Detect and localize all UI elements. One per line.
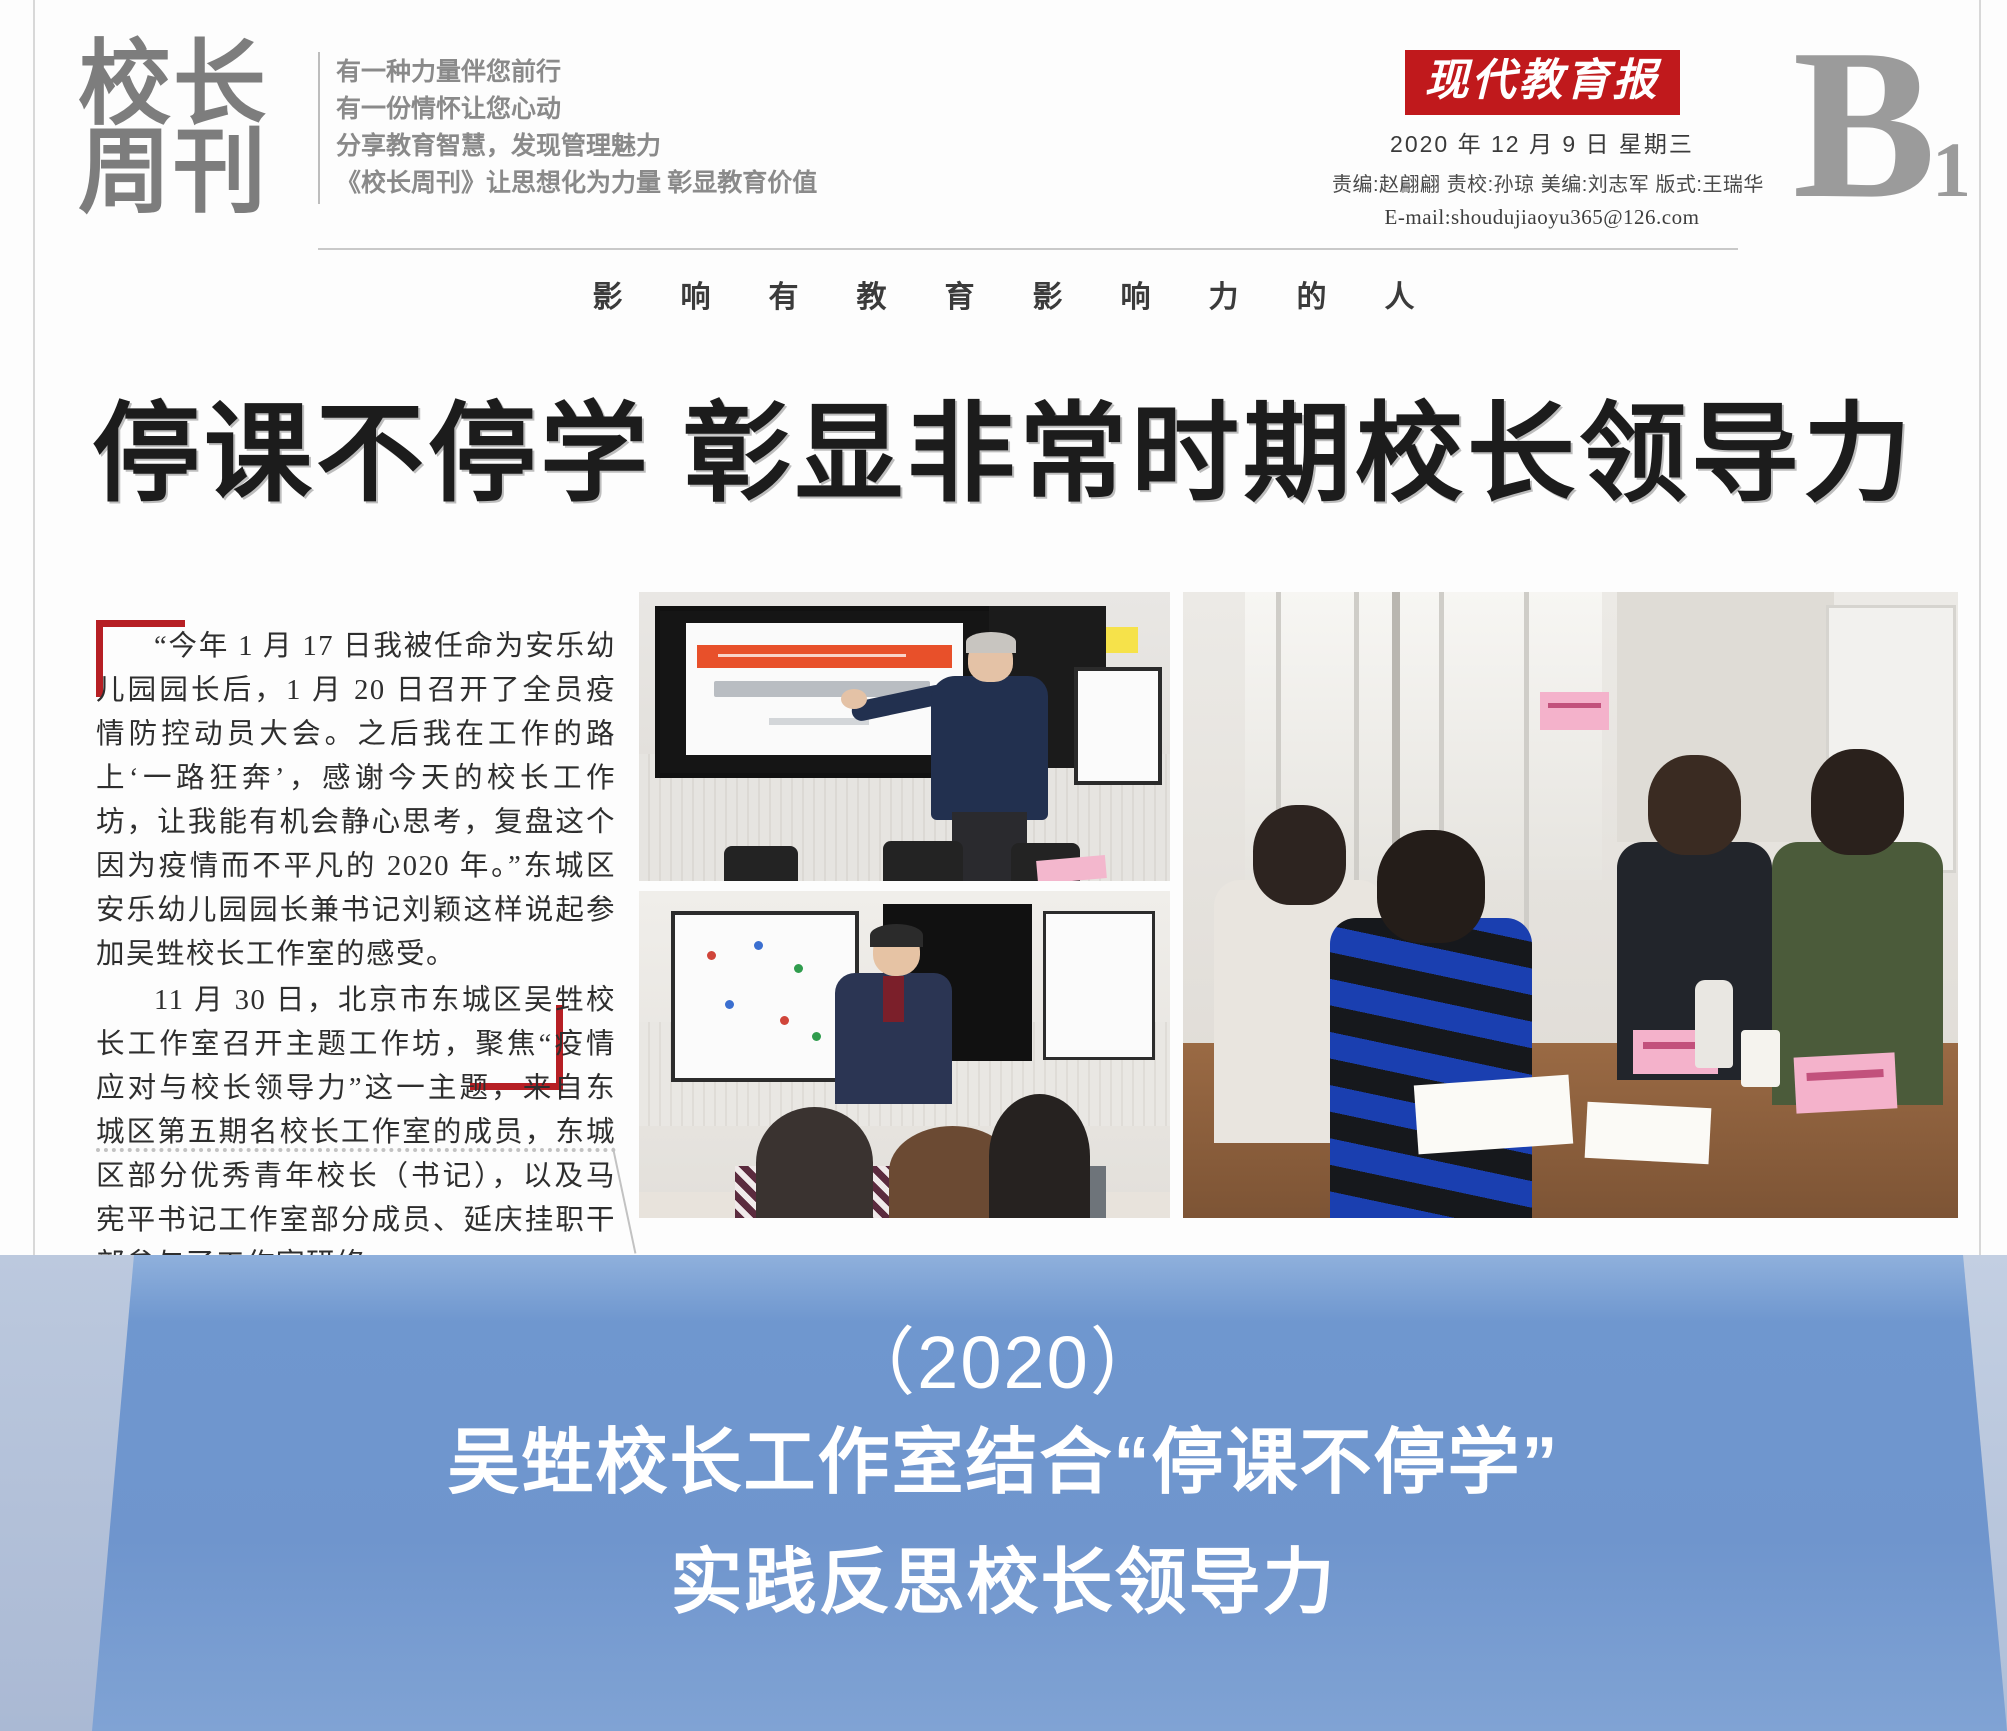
photo-slide-header-bar [697, 645, 951, 668]
photo-presenter-body [931, 676, 1048, 821]
banner-year: （2020） [0, 1303, 2007, 1410]
page-letter: B [1793, 4, 1932, 243]
dotted-divider [96, 1148, 616, 1152]
masthead-slogan-3: 分享教育智慧，发现管理魅力 [336, 128, 976, 165]
photo-name-card [1794, 1053, 1898, 1115]
brand-mark-logo: 现代教育报 [1405, 50, 1680, 115]
photo-audience-head [989, 1094, 1090, 1218]
photo-roundtable-discussion [1183, 592, 1958, 1218]
photo-audience-head [756, 1107, 873, 1218]
page-number-mark: B1 [1793, 16, 1971, 231]
article-body: “今年 1 月 17 日我被任命为安乐幼儿园园长后，1 月 20 日召开了全员疫… [96, 625, 616, 1255]
masthead-logo-line2: 周刊 [78, 130, 293, 218]
masthead-slogan-4: 《校长周刊》让思想化为力量 彰显教育价值 [336, 165, 976, 202]
photo-window-mullion [1392, 592, 1400, 880]
article-headline: 停课不停学 彰显非常时期校长领导力 [0, 398, 2007, 515]
caption-banner: （2020） 吴甡校长工作室结合“停课不停学” 实践反思校长领导力 [0, 1255, 2007, 1731]
article-paragraph-2: 11 月 30 日，北京市东城区吴甡校长工作室召开主题工作坊，聚焦“疫情应对与校… [96, 979, 616, 1255]
brand-block: 现代教育报 2020 年 12 月 9 日 星期三 责编:赵翩翩 责校:孙琼 美… [1332, 50, 1752, 230]
photo-warning-sign [1106, 627, 1138, 653]
photo-speaker-hair [870, 924, 923, 947]
photo-participant-head [1253, 805, 1346, 905]
photo-chair [883, 841, 963, 881]
article-paragraph-1: “今年 1 月 17 日我被任命为安乐幼儿园园长后，1 月 20 日召开了全员疫… [96, 625, 616, 977]
photo-whiteboard-left [671, 911, 860, 1083]
newspaper-page: 校长 周刊 有一种力量伴您前行 有一份情怀让您心动 分享教育智慧，发现管理魅力 … [0, 0, 2007, 1731]
photo-participant-head [1377, 830, 1486, 943]
masthead-rule [318, 248, 1738, 250]
photo-slide-footer [769, 718, 869, 725]
masthead: 校长 周刊 有一种力量伴您前行 有一份情怀让您心动 分享教育智慧，发现管理魅力 … [0, 0, 2007, 262]
masthead-slogan-1: 有一种力量伴您前行 [336, 54, 976, 91]
photo-participant-head [1811, 749, 1904, 855]
photo-presenter-hand [841, 689, 868, 709]
photo-sticky-dot [812, 1032, 821, 1041]
photo-flipchart [1074, 667, 1162, 785]
contact-email: E-mail:shoudujiaoyu365@126.com [1332, 205, 1752, 230]
photo-sticky-dot [780, 1016, 789, 1025]
photo-content [1183, 592, 1958, 1218]
photo-name-card [1540, 692, 1610, 730]
banner-caption-line-2: 实践反思校长领导力 [0, 1523, 2007, 1628]
slogan-strip: 影响有教育影响力的人 [0, 272, 2007, 316]
masthead-logo: 校长 周刊 [78, 42, 293, 219]
masthead-slogans: 有一种力量伴您前行 有一份情怀让您心动 分享教育智慧，发现管理魅力 《校长周刊》… [336, 54, 976, 202]
photo-whiteboard-right [1043, 911, 1155, 1061]
masthead-slogan-2: 有一份情怀让您心动 [336, 91, 976, 128]
photo-sticky-dot [707, 951, 716, 960]
photo-speaker-with-whiteboards [639, 891, 1170, 1218]
photo-documents [1585, 1102, 1712, 1165]
photo-content [639, 891, 1170, 1218]
newspaper-sheet: 校长 周刊 有一种力量伴您前行 有一份情怀让您心动 分享教育智慧，发现管理魅力 … [0, 0, 2007, 1255]
page-number: 1 [1932, 126, 1971, 213]
photo-chair [724, 846, 798, 881]
photo-thermos [1695, 980, 1734, 1068]
masthead-divider [318, 52, 320, 204]
photo-presenter-hair [966, 632, 1016, 652]
photo-sticky-dot [794, 964, 803, 973]
photo-presenter-at-screen [639, 592, 1170, 881]
photo-participant-head [1648, 755, 1741, 855]
photo-participant-body [1330, 918, 1532, 1218]
photo-sticky-dot [725, 1000, 734, 1009]
photo-content [639, 592, 1170, 881]
banner-caption-line-1: 吴甡校长工作室结合“停课不停学” [0, 1403, 2007, 1508]
photo-cup [1741, 1030, 1780, 1086]
editorial-credits: 责编:赵翩翩 责校:孙琼 美编:刘志军 版式:王瑞华 [1332, 168, 1752, 197]
publication-date: 2020 年 12 月 9 日 星期三 [1332, 125, 1752, 159]
photo-speaker-tie [883, 976, 904, 1022]
photo-sticky-dot [754, 941, 763, 950]
photo-documents [1413, 1075, 1572, 1155]
